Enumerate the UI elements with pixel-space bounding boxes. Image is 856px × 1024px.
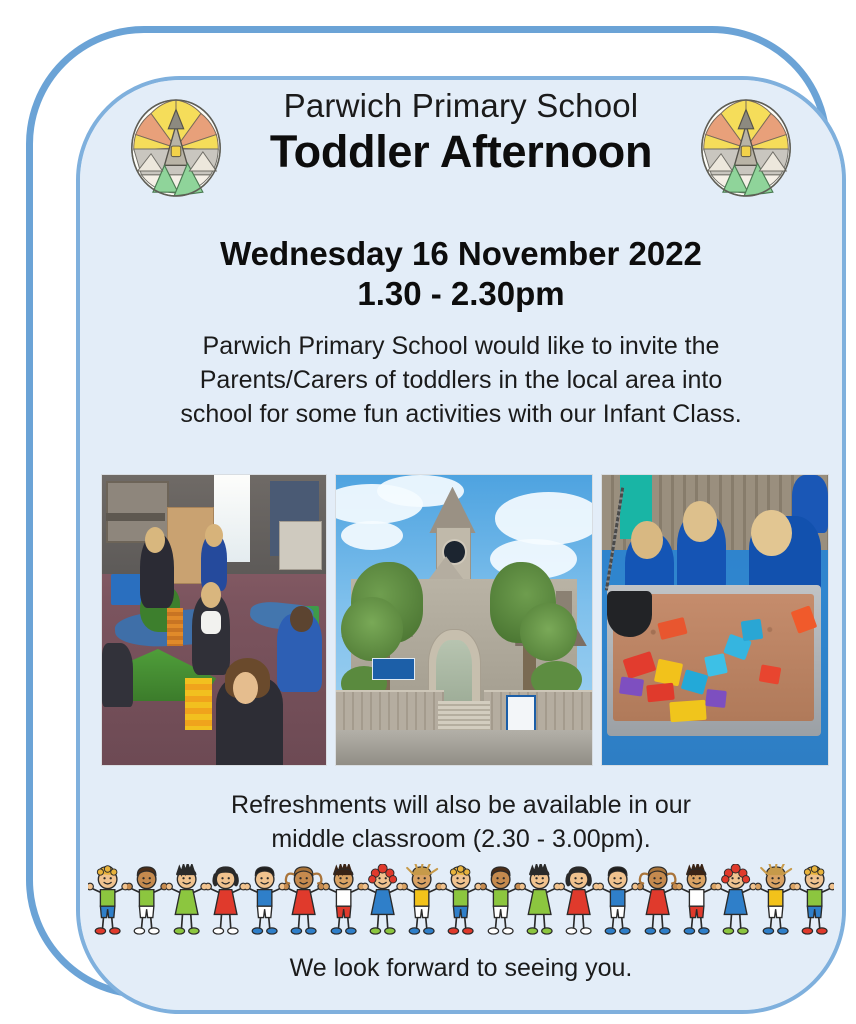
kids-border-decoration xyxy=(88,860,834,938)
kid-figure xyxy=(402,864,441,938)
kid-figure xyxy=(598,864,637,938)
kid-figure xyxy=(206,864,245,938)
refreshments-line-2: middle classroom (2.30 - 3.00pm). xyxy=(120,822,802,856)
kid-figure xyxy=(88,864,127,938)
invitation-line-2: Parents/Carers of toddlers in the local … xyxy=(138,363,784,397)
kid-figure xyxy=(324,864,363,938)
event-title: Toddler Afternoon xyxy=(190,127,732,177)
kid-figure xyxy=(795,864,834,938)
invitation-line-3: school for some fun activities with our … xyxy=(138,397,784,431)
kid-figure xyxy=(716,864,755,938)
photo-strip xyxy=(101,474,829,766)
invitation-text: Parwich Primary School would like to inv… xyxy=(138,329,784,432)
poster-outer-frame: Parwich Primary School Toddler Afternoon xyxy=(26,26,830,998)
refreshments-text: Refreshments will also be available in o… xyxy=(120,788,802,857)
poster-inner-frame: Parwich Primary School Toddler Afternoon xyxy=(76,76,846,1014)
school-crest-right-icon xyxy=(698,96,794,200)
poster-header: Parwich Primary School Toddler Afternoon xyxy=(80,80,842,230)
photo-school-building xyxy=(335,474,593,766)
closing-text: We look forward to seeing you. xyxy=(80,952,842,985)
invitation-line-1: Parwich Primary School would like to inv… xyxy=(138,329,784,363)
poster-content: Parwich Primary School Toddler Afternoon xyxy=(80,80,842,1010)
poster-title-block: Parwich Primary School Toddler Afternoon xyxy=(190,88,732,176)
kid-figure xyxy=(167,864,206,938)
school-name: Parwich Primary School xyxy=(190,88,732,125)
kid-figure xyxy=(481,864,520,938)
event-date: Wednesday 16 November 2022 xyxy=(80,234,842,274)
kid-figure xyxy=(245,864,284,938)
kid-figure xyxy=(756,864,795,938)
kid-figure xyxy=(284,864,323,938)
photo-classroom-play xyxy=(101,474,327,766)
photo-sand-tray xyxy=(601,474,829,766)
refreshments-line-1: Refreshments will also be available in o… xyxy=(120,788,802,822)
kid-figure xyxy=(638,864,677,938)
event-time: 1.30 - 2.30pm xyxy=(80,274,842,314)
kid-figure xyxy=(559,864,598,938)
kid-figure xyxy=(441,864,480,938)
kid-figure xyxy=(520,864,559,938)
kid-figure xyxy=(677,864,716,938)
kid-figure xyxy=(127,864,166,938)
kid-figure xyxy=(363,864,402,938)
